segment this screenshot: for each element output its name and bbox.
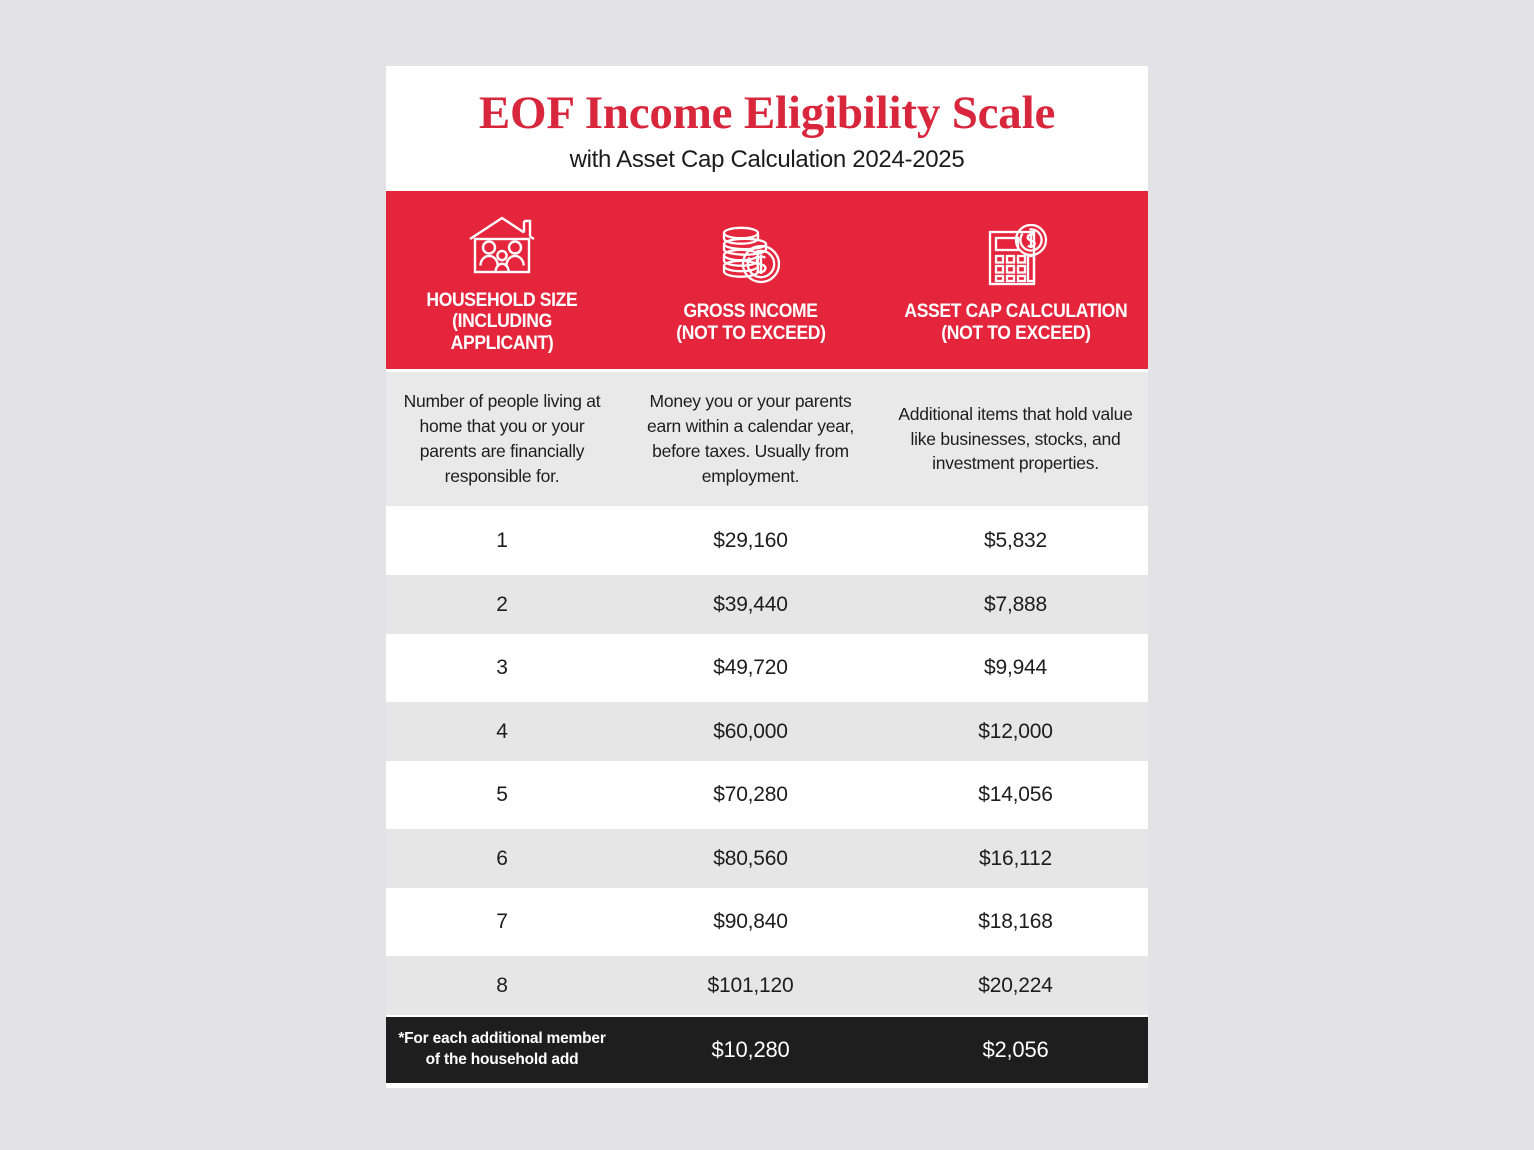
- column-header-asset-cap: ASSET CAP CALCULATION (NOT TO EXCEED): [883, 191, 1148, 369]
- table-row: 5$70,280$14,056: [386, 763, 1148, 827]
- cell-asset-cap: $16,112: [883, 829, 1148, 888]
- footer-note: *For each additional member of the house…: [386, 1017, 618, 1083]
- cell-gross-income: $101,120: [618, 956, 883, 1015]
- page-title: EOF Income Eligibility Scale: [479, 89, 1055, 138]
- cell-household-size: 7: [386, 893, 618, 952]
- cell-household-size: 1: [386, 512, 618, 571]
- table-body: 1$29,160$5,8322$39,440$7,8883$49,720$9,9…: [386, 509, 1148, 1017]
- column-header-household-size-line2: (INCLUDING APPLICANT): [405, 311, 599, 355]
- table-row: 6$80,560$16,112: [386, 827, 1148, 891]
- description-asset-cap: Additional items that hold value like bu…: [883, 372, 1148, 506]
- column-header-asset-cap-line1: ASSET CAP CALCULATION: [904, 301, 1127, 323]
- table-row: 4$60,000$12,000: [386, 700, 1148, 764]
- calculator-dollar-icon: [981, 217, 1051, 295]
- cell-gross-income: $80,560: [618, 829, 883, 888]
- description-gross-income: Money you or your parents earn within a …: [618, 372, 883, 506]
- cell-household-size: 4: [386, 702, 618, 761]
- eligibility-scale-card: EOF Income Eligibility Scale with Asset …: [386, 66, 1148, 1088]
- table-row: 7$90,840$18,168: [386, 890, 1148, 954]
- cell-asset-cap: $7,888: [883, 575, 1148, 634]
- cell-asset-cap: $18,168: [883, 893, 1148, 952]
- cell-gross-income: $39,440: [618, 575, 883, 634]
- cell-household-size: 6: [386, 829, 618, 888]
- table-row: 8$101,120$20,224: [386, 954, 1148, 1018]
- column-header-asset-cap-line2: (NOT TO EXCEED): [941, 323, 1090, 345]
- cell-gross-income: $29,160: [618, 512, 883, 571]
- description-household-size: Number of people living at home that you…: [386, 372, 618, 506]
- page-subtitle: with Asset Cap Calculation 2024-2025: [570, 146, 965, 174]
- column-header-household-size: HOUSEHOLD SIZE (INCLUDING APPLICANT): [386, 191, 618, 369]
- cell-gross-income: $70,280: [618, 766, 883, 825]
- footer-gross-income-value: $10,280: [618, 1017, 883, 1083]
- cell-asset-cap: $9,944: [883, 639, 1148, 698]
- cell-asset-cap: $5,832: [883, 512, 1148, 571]
- poster-canvas: EOF Income Eligibility Scale with Asset …: [0, 0, 1534, 1150]
- cell-asset-cap: $14,056: [883, 766, 1148, 825]
- column-header-gross-income-line2: (NOT TO EXCEED): [676, 323, 825, 345]
- column-description-row: Number of people living at home that you…: [386, 369, 1148, 509]
- cell-household-size: 2: [386, 575, 618, 634]
- footer-asset-cap-value: $2,056: [883, 1017, 1148, 1083]
- table-row: 2$39,440$7,888: [386, 573, 1148, 637]
- cell-gross-income: $90,840: [618, 893, 883, 952]
- column-header-gross-income: GROSS INCOME (NOT TO EXCEED): [618, 191, 883, 369]
- cell-household-size: 5: [386, 766, 618, 825]
- cell-gross-income: $60,000: [618, 702, 883, 761]
- table-footer-row: *For each additional member of the house…: [386, 1017, 1148, 1083]
- title-block: EOF Income Eligibility Scale with Asset …: [386, 66, 1148, 191]
- cell-household-size: 8: [386, 956, 618, 1015]
- cell-gross-income: $49,720: [618, 639, 883, 698]
- column-header-gross-income-line1: GROSS INCOME: [683, 301, 817, 323]
- table-row: 3$49,720$9,944: [386, 636, 1148, 700]
- coins-stack-dollar-icon: [716, 217, 786, 295]
- cell-household-size: 3: [386, 639, 618, 698]
- table-row: 1$29,160$5,832: [386, 509, 1148, 573]
- cell-asset-cap: $20,224: [883, 956, 1148, 1015]
- table-header-row: HOUSEHOLD SIZE (INCLUDING APPLICANT): [386, 191, 1148, 369]
- column-header-household-size-line1: HOUSEHOLD SIZE: [427, 290, 578, 312]
- cell-asset-cap: $12,000: [883, 702, 1148, 761]
- house-family-icon: [464, 207, 540, 284]
